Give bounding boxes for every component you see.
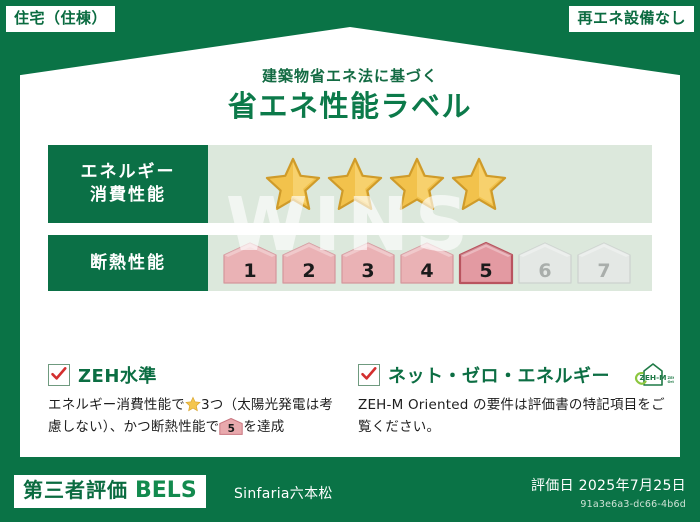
notes-section: ZEH水準 エネルギー消費性能で3つ（太陽光発電は考慮しない）、かつ断熱性能で5… [48, 362, 668, 439]
evaluation-date: 評価日 2025年7月25日 [531, 478, 686, 495]
insulation-level-2: 2 [281, 241, 337, 285]
insulation-level-1: 1 [222, 241, 278, 285]
row-insulation-label: 断熱性能 [48, 235, 208, 291]
badge-building-type: 住宅（住棟） [6, 6, 115, 32]
bels-label-en: BELS [135, 480, 197, 502]
insulation-level-6: 6 [517, 241, 573, 285]
insulation-level-number: 1 [222, 262, 278, 281]
bels-certification-mark: 第三者評価 BELS [14, 475, 206, 508]
row-insulation-body: 1234567 [208, 235, 652, 291]
insulation-level-4: 4 [399, 241, 455, 285]
insulation-level-number: 5 [458, 262, 514, 281]
note-zeh-body: エネルギー消費性能で3つ（太陽光発電は考慮しない）、かつ断熱性能で5を達成 [48, 395, 344, 439]
checkbox-zeh-standard [48, 364, 70, 386]
bels-label-jp: 第三者評価 [23, 480, 128, 500]
title-block: 建築物省エネ法に基づく 省エネ性能ラベル [20, 69, 680, 121]
insulation-level-5: 5 [458, 241, 514, 285]
insulation-level-number: 7 [576, 262, 632, 281]
insulation-level-number: 3 [340, 262, 396, 281]
evaluation-id: 91a3e6a3-dc66-4b6d [531, 499, 686, 510]
svg-text:ZEH-M: ZEH-M [639, 373, 666, 382]
checkbox-net-zero-energy [358, 364, 380, 386]
inline-star-icon [185, 396, 201, 412]
note-nze-header: ネット・ゼロ・エネルギー ZEH-M ZEH-M Oriented [358, 362, 668, 388]
insulation-level-number: 6 [517, 262, 573, 281]
row-insulation: 断熱性能 1234567 [48, 235, 652, 291]
note-nze-title: ネット・ゼロ・エネルギー [388, 362, 610, 388]
label-panel: 建築物省エネ法に基づく 省エネ性能ラベル エネルギー 消費性能 [20, 27, 680, 457]
row-energy-label-line2: 消費性能 [90, 184, 166, 207]
star-rating [208, 155, 508, 213]
footer: 第三者評価 BELS Sinfaria六本松 評価日 2025年7月25日 91… [0, 462, 700, 522]
row-energy-consumption: エネルギー 消費性能 [48, 145, 652, 223]
note-zeh-standard: ZEH水準 エネルギー消費性能で3つ（太陽光発電は考慮しない）、かつ断熱性能で5… [48, 362, 344, 439]
row-energy-body [208, 145, 652, 223]
zeh-m-oriented-logo-icon: ZEH-M ZEH-M Oriented [622, 361, 674, 389]
rating-rows: エネルギー 消費性能 断熱性能 1234567 [48, 145, 652, 291]
label-subtitle: 建築物省エネ法に基づく [20, 69, 680, 84]
note-zeh-body-part3: を達成 [243, 419, 284, 435]
insulation-level-7: 7 [576, 241, 632, 285]
row-energy-label-line1: エネルギー [81, 161, 176, 184]
star-filled-icon [326, 155, 384, 213]
building-name: Sinfaria六本松 [234, 483, 333, 503]
insulation-level-3: 3 [340, 241, 396, 285]
row-insulation-label-text: 断熱性能 [90, 252, 166, 275]
badge-renewable-energy: 再エネ設備なし [569, 6, 694, 32]
star-filled-icon [450, 155, 508, 213]
star-filled-icon [388, 155, 446, 213]
page-title: 省エネ性能ラベル [20, 92, 680, 121]
note-net-zero-energy: ネット・ゼロ・エネルギー ZEH-M ZEH-M Oriented ZEH-M … [358, 362, 668, 439]
energy-performance-label: 住宅（住棟） 再エネ設備なし 建築物省エネ法に基づく 省エネ性能ラベル エネルギ… [0, 0, 700, 522]
footer-right-block: 評価日 2025年7月25日 91a3e6a3-dc66-4b6d [531, 478, 686, 510]
insulation-level-number: 2 [281, 262, 337, 281]
star-filled-icon [264, 155, 322, 213]
insulation-level-scale: 1234567 [208, 241, 632, 285]
svg-text:Oriented: Oriented [668, 380, 675, 384]
note-zeh-header: ZEH水準 [48, 362, 344, 388]
row-energy-label: エネルギー 消費性能 [48, 145, 208, 223]
insulation-level-number: 4 [399, 262, 455, 281]
note-nze-body: ZEH-M Oriented の要件は評価書の特記項目をご覧ください。 [358, 395, 668, 439]
note-zeh-body-part1: エネルギー消費性能で [48, 397, 185, 413]
inline-house-icon: 5 [219, 418, 243, 435]
note-zeh-title: ZEH水準 [78, 362, 157, 388]
inline-house-number: 5 [219, 424, 243, 435]
